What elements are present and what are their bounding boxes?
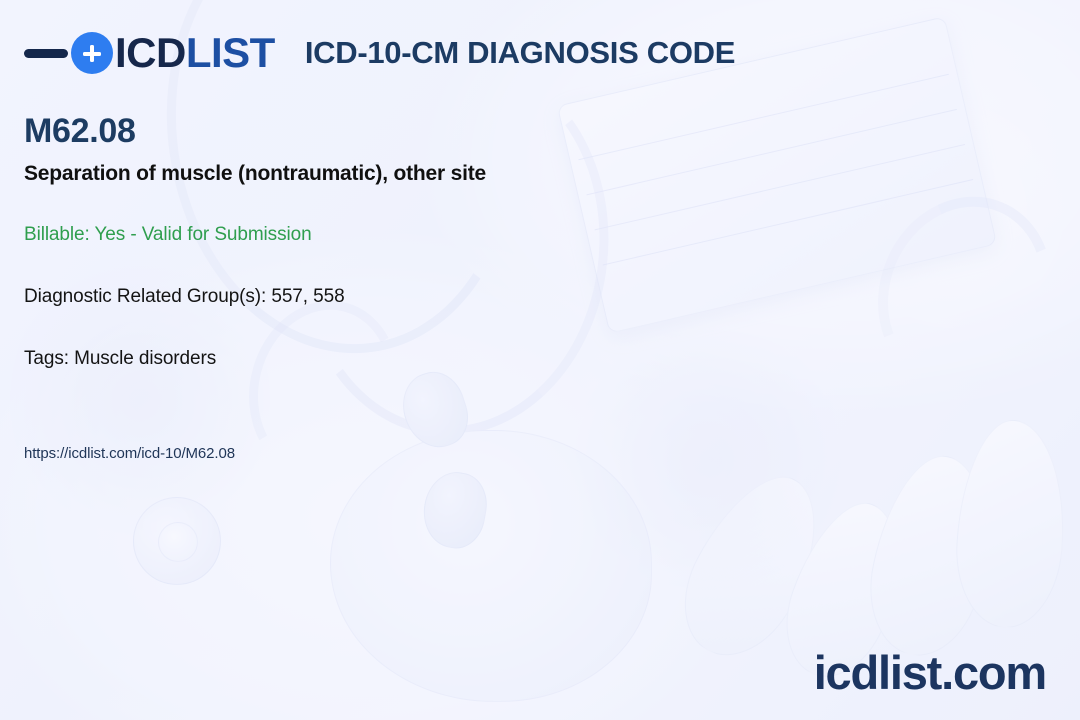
footer-brand: icdlist.com	[814, 649, 1046, 696]
plus-icon	[71, 32, 113, 74]
dash-icon	[24, 49, 68, 58]
page-title: ICD-10-CM DIAGNOSIS CODE	[305, 35, 735, 71]
logo-word-secondary: LIST	[186, 29, 275, 76]
icdlist-logo[interactable]: ICDLIST	[24, 24, 275, 82]
diagnosis-code: M62.08	[24, 112, 844, 151]
logo-wordmark: ICDLIST	[115, 32, 275, 74]
diagnosis-description: Separation of muscle (nontraumatic), oth…	[24, 161, 844, 187]
billable-status: Billable: Yes - Valid for Submission	[24, 224, 312, 246]
drg-line: Diagnostic Related Group(s): 557, 558	[24, 286, 345, 308]
source-url[interactable]: https://icdlist.com/icd-10/M62.08	[24, 445, 235, 462]
page-header: ICDLIST ICD-10-CM DIAGNOSIS CODE	[24, 24, 735, 82]
tags-line: Tags: Muscle disorders	[24, 348, 216, 370]
diagnosis-code-card: ICDLIST ICD-10-CM DIAGNOSIS CODE M62.08 …	[0, 0, 1080, 720]
code-summary: M62.08 Separation of muscle (nontraumati…	[24, 112, 844, 187]
logo-word-primary: ICD	[115, 29, 186, 76]
